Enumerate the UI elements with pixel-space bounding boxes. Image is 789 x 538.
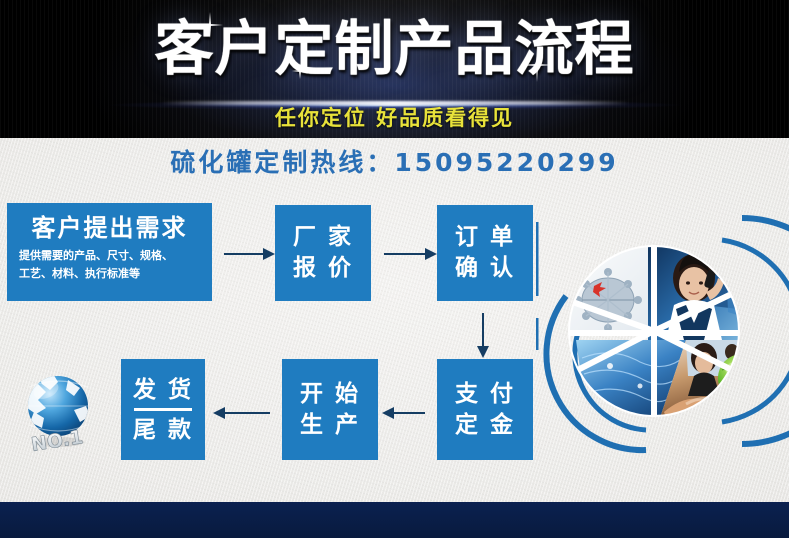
flow-step-request-subtitle-line2: 工艺、材料、执行标准等: [19, 265, 200, 283]
header-banner: 客户定制产品流程 任你定位 好品质看得见: [0, 0, 789, 138]
flow-step-deposit[interactable]: 支 付 定 金: [437, 359, 533, 460]
arrow-produce-to-ship-icon: [224, 412, 270, 414]
flow-step-deposit-title-line2: 定 金: [455, 410, 515, 441]
flow-step-quote-title-line2: 报 价: [293, 253, 353, 284]
globe-logo-icon: NO.1: [8, 362, 104, 458]
arrow-confirm-to-deposit-icon: [482, 313, 484, 347]
flow-step-produce-title-line1: 开 始: [300, 379, 360, 410]
blue-technology-photo: [576, 340, 686, 430]
flow-step-produce-title-line2: 生 产: [300, 410, 360, 441]
flow-step-deposit-title-line1: 支 付: [455, 379, 515, 410]
arrow-quote-to-confirm-icon: [384, 253, 426, 255]
promo-banner: 客户定制产品流程 任你定位 好品质看得见 硫化罐定制热线：15095220299…: [0, 0, 789, 538]
flow-step-ship[interactable]: 发 货 尾 款: [121, 359, 205, 460]
flow-step-ship-title-line1: 发 货: [133, 375, 193, 405]
flow-step-produce[interactable]: 开 始 生 产: [282, 359, 378, 460]
logo-caption: NO.1: [30, 426, 85, 456]
page-title: 客户定制产品流程: [0, 14, 789, 84]
flow-step-quote-title-line1: 厂 家: [293, 222, 353, 253]
flow-step-confirm-title-line2: 确 认: [455, 253, 515, 284]
flow-step-ship-title-line2: 尾 款: [133, 415, 193, 445]
hotline-text: 硫化罐定制热线：15095220299: [0, 146, 789, 180]
arrow-request-to-quote-icon: [224, 253, 264, 255]
collage-circle: [556, 226, 766, 437]
flow-step-request-subtitle-line1: 提供需要的产品、尺寸、规格、: [19, 247, 200, 265]
ship-divider: [134, 408, 192, 411]
business-photo-collage: [536, 200, 789, 462]
flow-step-confirm[interactable]: 订 单 确 认: [437, 205, 533, 301]
footer-band: [0, 502, 789, 538]
flow-step-request[interactable]: 客户提出需求 提供需要的产品、尺寸、规格、 工艺、材料、执行标准等: [7, 203, 212, 301]
flow-step-quote[interactable]: 厂 家 报 价: [275, 205, 371, 301]
arrow-deposit-to-produce-icon: [393, 412, 425, 414]
flow-step-confirm-title-line1: 订 单: [455, 222, 515, 253]
collage-separators: [556, 226, 748, 436]
flow-step-request-title: 客户提出需求: [19, 213, 200, 243]
page-subtitle: 任你定位 好品质看得见: [0, 104, 789, 132]
